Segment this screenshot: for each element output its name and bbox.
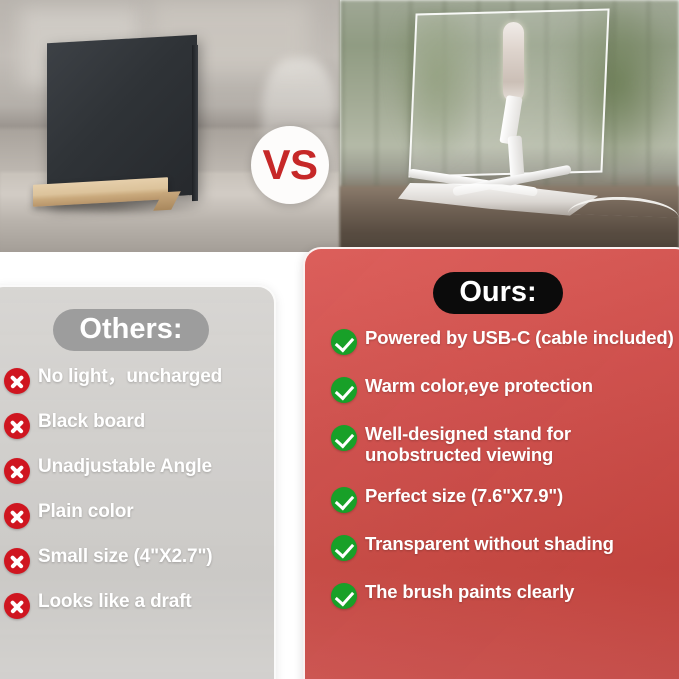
list-item-label: Perfect size (7.6"X7.9") xyxy=(365,485,563,506)
check-circle-icon xyxy=(331,583,357,609)
list-item: Unadjustable Angle xyxy=(4,456,266,484)
others-title-badge: Others: xyxy=(53,309,208,351)
our-board-stand-arm-lower xyxy=(508,136,525,179)
list-item: The brush paints clearly xyxy=(331,581,679,609)
list-item-label: Black board xyxy=(38,411,145,433)
list-item: Black board xyxy=(4,411,266,439)
list-item: Powered by USB-C (cable included) xyxy=(331,327,679,355)
x-circle-icon xyxy=(4,413,30,439)
list-item: Plain color xyxy=(4,501,266,529)
list-item-label: Well-designed stand for unobstructed vie… xyxy=(365,423,679,465)
comparison-infographic: VS Others: No light，uncharged Black boar… xyxy=(0,0,679,679)
list-item: Well-designed stand for unobstructed vie… xyxy=(331,423,679,465)
list-item: Perfect size (7.6"X7.9") xyxy=(331,485,679,513)
x-circle-icon xyxy=(4,368,30,394)
list-item: No light，uncharged xyxy=(4,366,266,394)
list-item-label: Small size (4"X2.7") xyxy=(38,546,213,568)
list-item: Looks like a draft xyxy=(4,591,266,619)
check-circle-icon xyxy=(331,329,357,355)
check-circle-icon xyxy=(331,535,357,561)
ours-title-badge: Ours: xyxy=(433,272,562,314)
product-photo-band: VS xyxy=(0,0,679,252)
check-circle-icon xyxy=(331,487,357,513)
list-item: Small size (4"X2.7") xyxy=(4,546,266,574)
competitor-black-board xyxy=(47,35,197,203)
ours-feature-list: Powered by USB-C (cable included) Warm c… xyxy=(331,327,679,629)
others-comparison-panel: Others: No light，uncharged Black board U… xyxy=(0,285,276,679)
list-item-label: Transparent without shading xyxy=(365,533,614,554)
x-circle-icon xyxy=(4,458,30,484)
list-item-label: The brush paints clearly xyxy=(365,581,574,602)
our-board-led-lamp xyxy=(503,22,524,102)
list-item-label: Warm color,eye protection xyxy=(365,375,593,396)
competitor-board-edge xyxy=(192,45,198,201)
list-item-label: Powered by USB-C (cable included) xyxy=(365,327,674,348)
x-circle-icon xyxy=(4,503,30,529)
check-circle-icon xyxy=(331,425,357,451)
list-item: Transparent without shading xyxy=(331,533,679,561)
ours-comparison-panel: Ours: Powered by USB-C (cable included) … xyxy=(303,247,679,679)
list-item-label: Looks like a draft xyxy=(38,591,192,613)
x-circle-icon xyxy=(4,593,30,619)
list-item: Warm color,eye protection xyxy=(331,375,679,403)
list-item-label: No light，uncharged xyxy=(38,366,222,388)
others-title-wrap: Others: xyxy=(0,309,274,351)
x-circle-icon xyxy=(4,548,30,574)
vs-badge-label: VS xyxy=(262,144,317,186)
list-item-label: Unadjustable Angle xyxy=(38,456,212,478)
check-circle-icon xyxy=(331,377,357,403)
others-feature-list: No light，uncharged Black board Unadjusta… xyxy=(4,366,266,636)
list-item-label: Plain color xyxy=(38,501,133,523)
ours-title-wrap: Ours: xyxy=(305,272,679,314)
vs-badge: VS xyxy=(251,126,329,204)
